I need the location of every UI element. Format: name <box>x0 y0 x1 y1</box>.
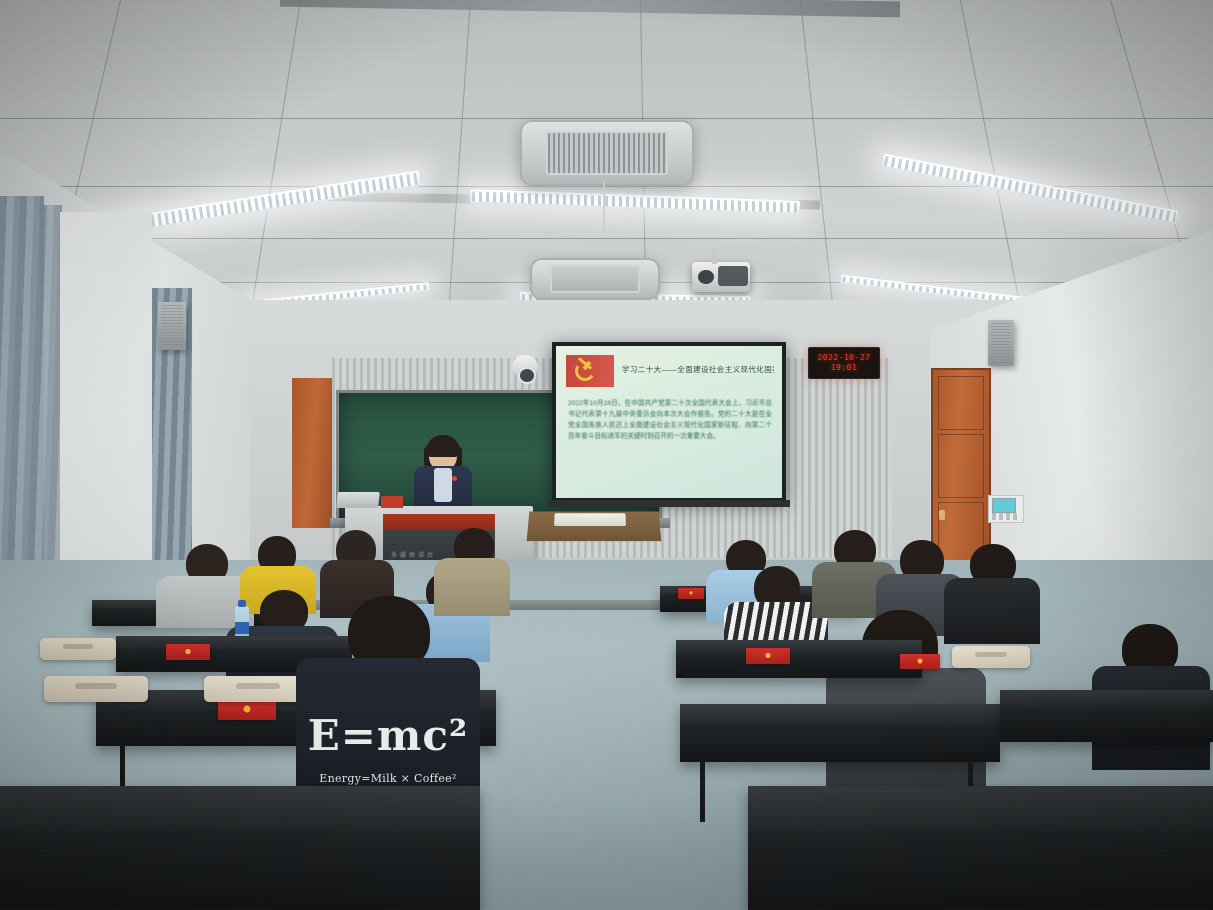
wall-speaker-right <box>988 320 1014 366</box>
red-study-booklet <box>746 648 790 664</box>
door-handle[interactable] <box>939 510 945 520</box>
projection-screen: 学习二十大——全面建设社会主义现代化国家 2022年10月16日，在中国共产党第… <box>552 342 786 502</box>
podium-red-item <box>381 496 403 508</box>
ceiling-ac-unit <box>520 120 694 186</box>
wall-control-panel[interactable] <box>988 495 1024 523</box>
classroom-photo: 学习二十大——全面建设社会主义现代化国家 2022年10月16日，在中国共产党第… <box>0 0 1213 910</box>
wall-pillar <box>60 212 152 612</box>
classroom-desk <box>748 786 1213 910</box>
front-side-door[interactable] <box>292 378 334 528</box>
red-study-booklet <box>678 588 704 599</box>
podium-laptop <box>336 492 380 508</box>
red-study-booklet <box>900 654 940 669</box>
ceiling-light-fixture <box>470 189 800 215</box>
ceiling-projector <box>692 262 750 292</box>
classroom-chair <box>40 638 116 660</box>
ceiling-light-fixture <box>881 154 1178 225</box>
ceiling-ac-unit <box>530 258 660 300</box>
ptz-dome-camera <box>512 355 538 385</box>
tshirt-subtext: Energy=Milk × Coffee² <box>319 772 456 785</box>
slide-title: 学习二十大——全面建设社会主义现代化国家 <box>622 364 774 375</box>
classroom-chair <box>952 646 1030 668</box>
slide-body-text: 2022年10月16日，在中国共产党第二十次全国代表大会上，习近平总书记代表第十… <box>568 398 772 442</box>
classroom-chair <box>44 676 148 702</box>
classroom-desk <box>0 786 480 910</box>
red-study-booklet <box>166 644 210 660</box>
classroom-desk <box>676 640 922 678</box>
projection-screen-frame-bottom <box>548 500 790 507</box>
tshirt-equation: E=mc² <box>308 716 469 756</box>
control-panel-buttons[interactable] <box>992 513 1020 520</box>
classroom-desk <box>680 704 1000 762</box>
front-side-table <box>527 511 662 541</box>
led-clock-date: 2022-10-27 <box>817 353 870 363</box>
slide-party-flag-icon <box>566 355 614 387</box>
wall-speaker-left <box>158 302 186 350</box>
control-panel-screen <box>992 498 1016 513</box>
classroom-desk <box>1000 690 1213 742</box>
led-clock-display: 2022-10-27 19:01 <box>808 347 880 379</box>
presenter-badge <box>452 476 457 481</box>
podium-label: 多媒体讲台 <box>391 550 436 559</box>
red-study-booklet <box>218 700 276 720</box>
led-clock-time: 19:01 <box>831 363 858 373</box>
papers-on-table <box>554 513 626 526</box>
